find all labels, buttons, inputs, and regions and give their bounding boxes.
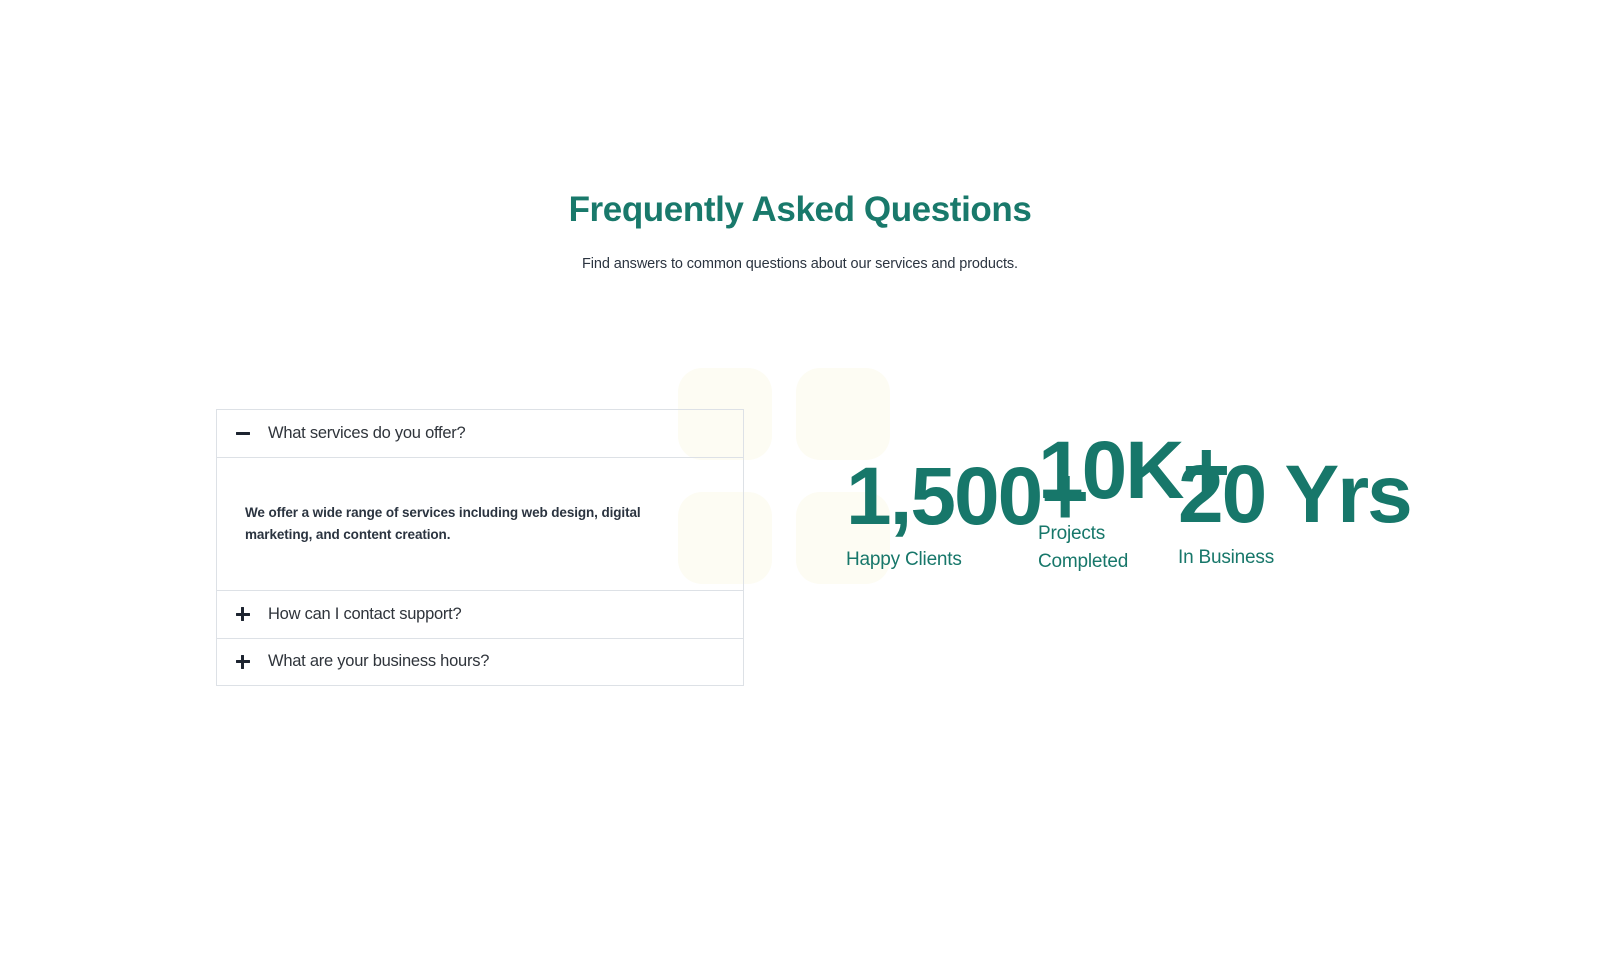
faq-question-label-0: What services do you offer? [268, 424, 465, 443]
stat-label-projects-completed: Projects Completed [1038, 520, 1148, 575]
faq-question-header-2[interactable]: What are your business hours? [216, 638, 744, 686]
stats-group: 1,500+ Happy Clients 10K+ Projects Compl… [846, 430, 1446, 630]
page-title: Frequently Asked Questions [0, 190, 1600, 230]
page-subtitle: Find answers to common questions about o… [0, 256, 1600, 272]
faq-answer-panel-0: We offer a wide range of services includ… [216, 457, 744, 590]
plus-icon[interactable] [235, 606, 251, 622]
plus-icon[interactable] [235, 654, 251, 670]
minus-icon[interactable] [235, 426, 251, 442]
faq-accordion: What services do you offer? We offer a w… [216, 409, 744, 686]
faq-question-header-1[interactable]: How can I contact support? [216, 590, 744, 638]
faq-question-label-2: What are your business hours? [268, 652, 489, 671]
faq-question-label-1: How can I contact support? [268, 605, 461, 624]
stat-value-in-business: 20 Yrs [1178, 454, 1411, 536]
stat-in-business: 20 Yrs In Business [1178, 454, 1411, 572]
faq-item-0: What services do you offer? We offer a w… [216, 409, 744, 590]
faq-header: Frequently Asked Questions Find answers … [0, 190, 1600, 272]
faq-answer-text-0: We offer a wide range of services includ… [245, 502, 665, 546]
faq-item-1: How can I contact support? [216, 590, 744, 638]
faq-question-header-0[interactable]: What services do you offer? [216, 409, 744, 457]
stat-label-in-business: In Business [1178, 544, 1411, 572]
faq-page: Frequently Asked Questions Find answers … [0, 0, 1600, 978]
faq-item-2: What are your business hours? [216, 638, 744, 686]
